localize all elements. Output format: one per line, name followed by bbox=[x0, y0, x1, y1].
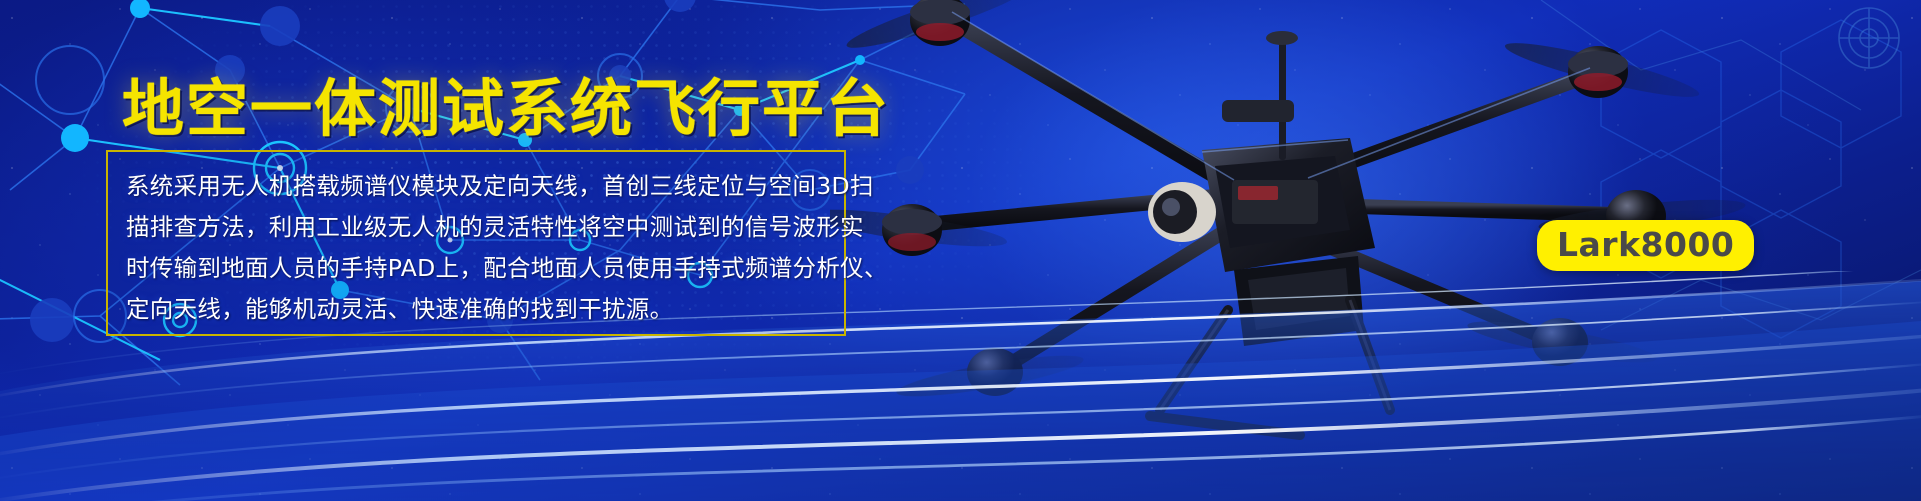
description-box: 系统采用无人机搭载频谱仪模块及定向天线，首创三线定位与空间3D扫 描排查方法，利… bbox=[106, 150, 846, 336]
hero-banner: 地空一体测试系统飞行平台 系统采用无人机搭载频谱仪模块及定向天线，首创三线定位与… bbox=[0, 0, 1921, 501]
page-title: 地空一体测试系统飞行平台 bbox=[122, 78, 890, 140]
hexagon-tech-overlay bbox=[1361, 0, 1921, 420]
description-line-3: 时传输到地面人员的手持PAD上，配合地面人员使用手持式频谱分析仪、 bbox=[126, 248, 828, 289]
model-badge: Lark8000 bbox=[1537, 220, 1754, 271]
description-line-4: 定向天线，能够机动灵活、快速准确的找到干扰源。 bbox=[126, 289, 828, 330]
description-line-1: 系统采用无人机搭载频谱仪模块及定向天线，首创三线定位与空间3D扫 bbox=[126, 166, 828, 207]
description-line-2: 描排查方法，利用工业级无人机的灵活特性将空中测试到的信号波形实 bbox=[126, 207, 828, 248]
hexacopter-drone-photo bbox=[830, 0, 1921, 450]
